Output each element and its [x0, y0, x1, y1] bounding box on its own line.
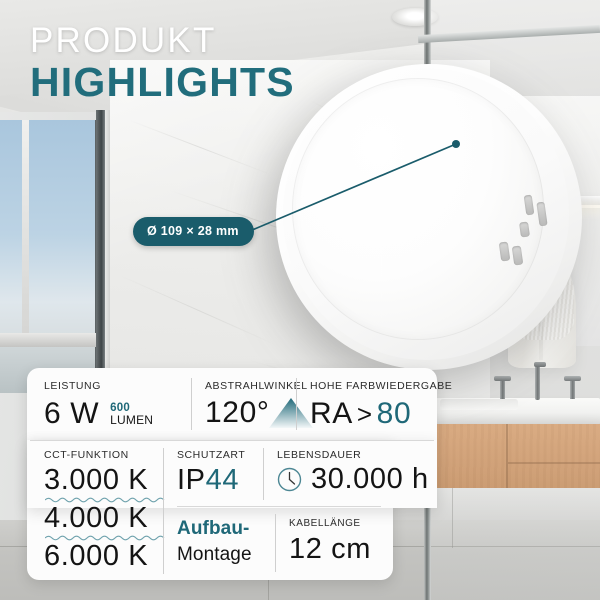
- divider: [177, 506, 381, 507]
- spec-protection-prefix: IP: [177, 464, 206, 496]
- clock-icon: [277, 467, 302, 492]
- spec-cct: CCT-FUNKTION 3.000 K 4.000 K 6.000 K: [44, 449, 170, 571]
- spec-protection-number: 44: [206, 464, 239, 496]
- spec-cri-operator: >: [357, 401, 373, 427]
- spec-cct-value-2: 4.000 K: [44, 504, 170, 533]
- spec-lifetime-value: 30.000 h: [311, 465, 429, 494]
- title-line-1: PRODUKT: [30, 22, 295, 60]
- divider: [296, 378, 297, 430]
- panel-face-ring: [292, 78, 544, 340]
- spec-power-caption: LEISTUNG: [44, 380, 153, 392]
- divider: [191, 378, 192, 430]
- spec-mounting-line-1: Aufbau-: [177, 518, 252, 540]
- spec-lifetime-caption: LEBENSDAUER: [277, 449, 429, 461]
- divider: [263, 448, 264, 500]
- divider: [163, 448, 164, 574]
- divider: [30, 440, 434, 441]
- spec-power: LEISTUNG 6 W 600 LUMEN: [44, 380, 153, 429]
- page-title: PRODUKT HIGHLIGHTS: [30, 22, 295, 104]
- title-line-2: HIGHLIGHTS: [30, 61, 295, 104]
- spec-lower-content: CCT-FUNKTION 3.000 K 4.000 K 6.000 K SCH…: [27, 440, 437, 580]
- spec-lifetime: LEBENSDAUER 30.000 h: [277, 449, 429, 494]
- spec-mounting-line-2: Montage: [177, 544, 252, 566]
- spec-cable-caption: KABELLÄNGE: [289, 518, 371, 529]
- window-sill: [0, 333, 102, 347]
- panel-vent-slot: [519, 221, 530, 237]
- spec-protection-caption: SCHUTZART: [177, 449, 245, 461]
- spec-protection: SCHUTZART IP44: [177, 449, 245, 495]
- spec-cable-value: 12 cm: [289, 535, 371, 564]
- spec-cri: HOHE FARBWIEDERGABE RA > 80: [310, 380, 452, 429]
- spec-beam-angle-caption: ABSTRAHLWINKEL: [205, 380, 314, 392]
- spec-cct-caption: CCT-FUNKTION: [44, 449, 170, 461]
- spec-power-lumen-unit: LUMEN: [110, 414, 153, 427]
- spec-card-row1: LEISTUNG 6 W 600 LUMEN ABSTRAHLWINKEL 12…: [27, 368, 437, 440]
- spec-cri-caption: HOHE FARBWIEDERGABE: [310, 380, 452, 392]
- spec-cri-prefix: RA: [310, 399, 353, 429]
- divider: [275, 514, 276, 572]
- spec-beam-angle-value: 120°: [205, 398, 269, 428]
- spec-beam-angle: ABSTRAHLWINKEL 120°: [205, 380, 314, 428]
- spec-cable: KABELLÄNGE 12 cm: [289, 518, 371, 564]
- spec-cct-value-1: 3.000 K: [44, 466, 170, 495]
- spec-cri-number: 80: [377, 399, 412, 429]
- dimension-badge: Ø 109 × 28 mm: [133, 217, 254, 246]
- spec-cct-value-3: 6.000 K: [44, 542, 170, 571]
- beam-cone-icon: [268, 397, 314, 429]
- led-panel-product: [276, 64, 582, 370]
- window-jamb-dark: [96, 110, 105, 410]
- spec-power-value: 6 W: [44, 399, 99, 429]
- spec-mounting: Aufbau- Montage: [177, 518, 252, 566]
